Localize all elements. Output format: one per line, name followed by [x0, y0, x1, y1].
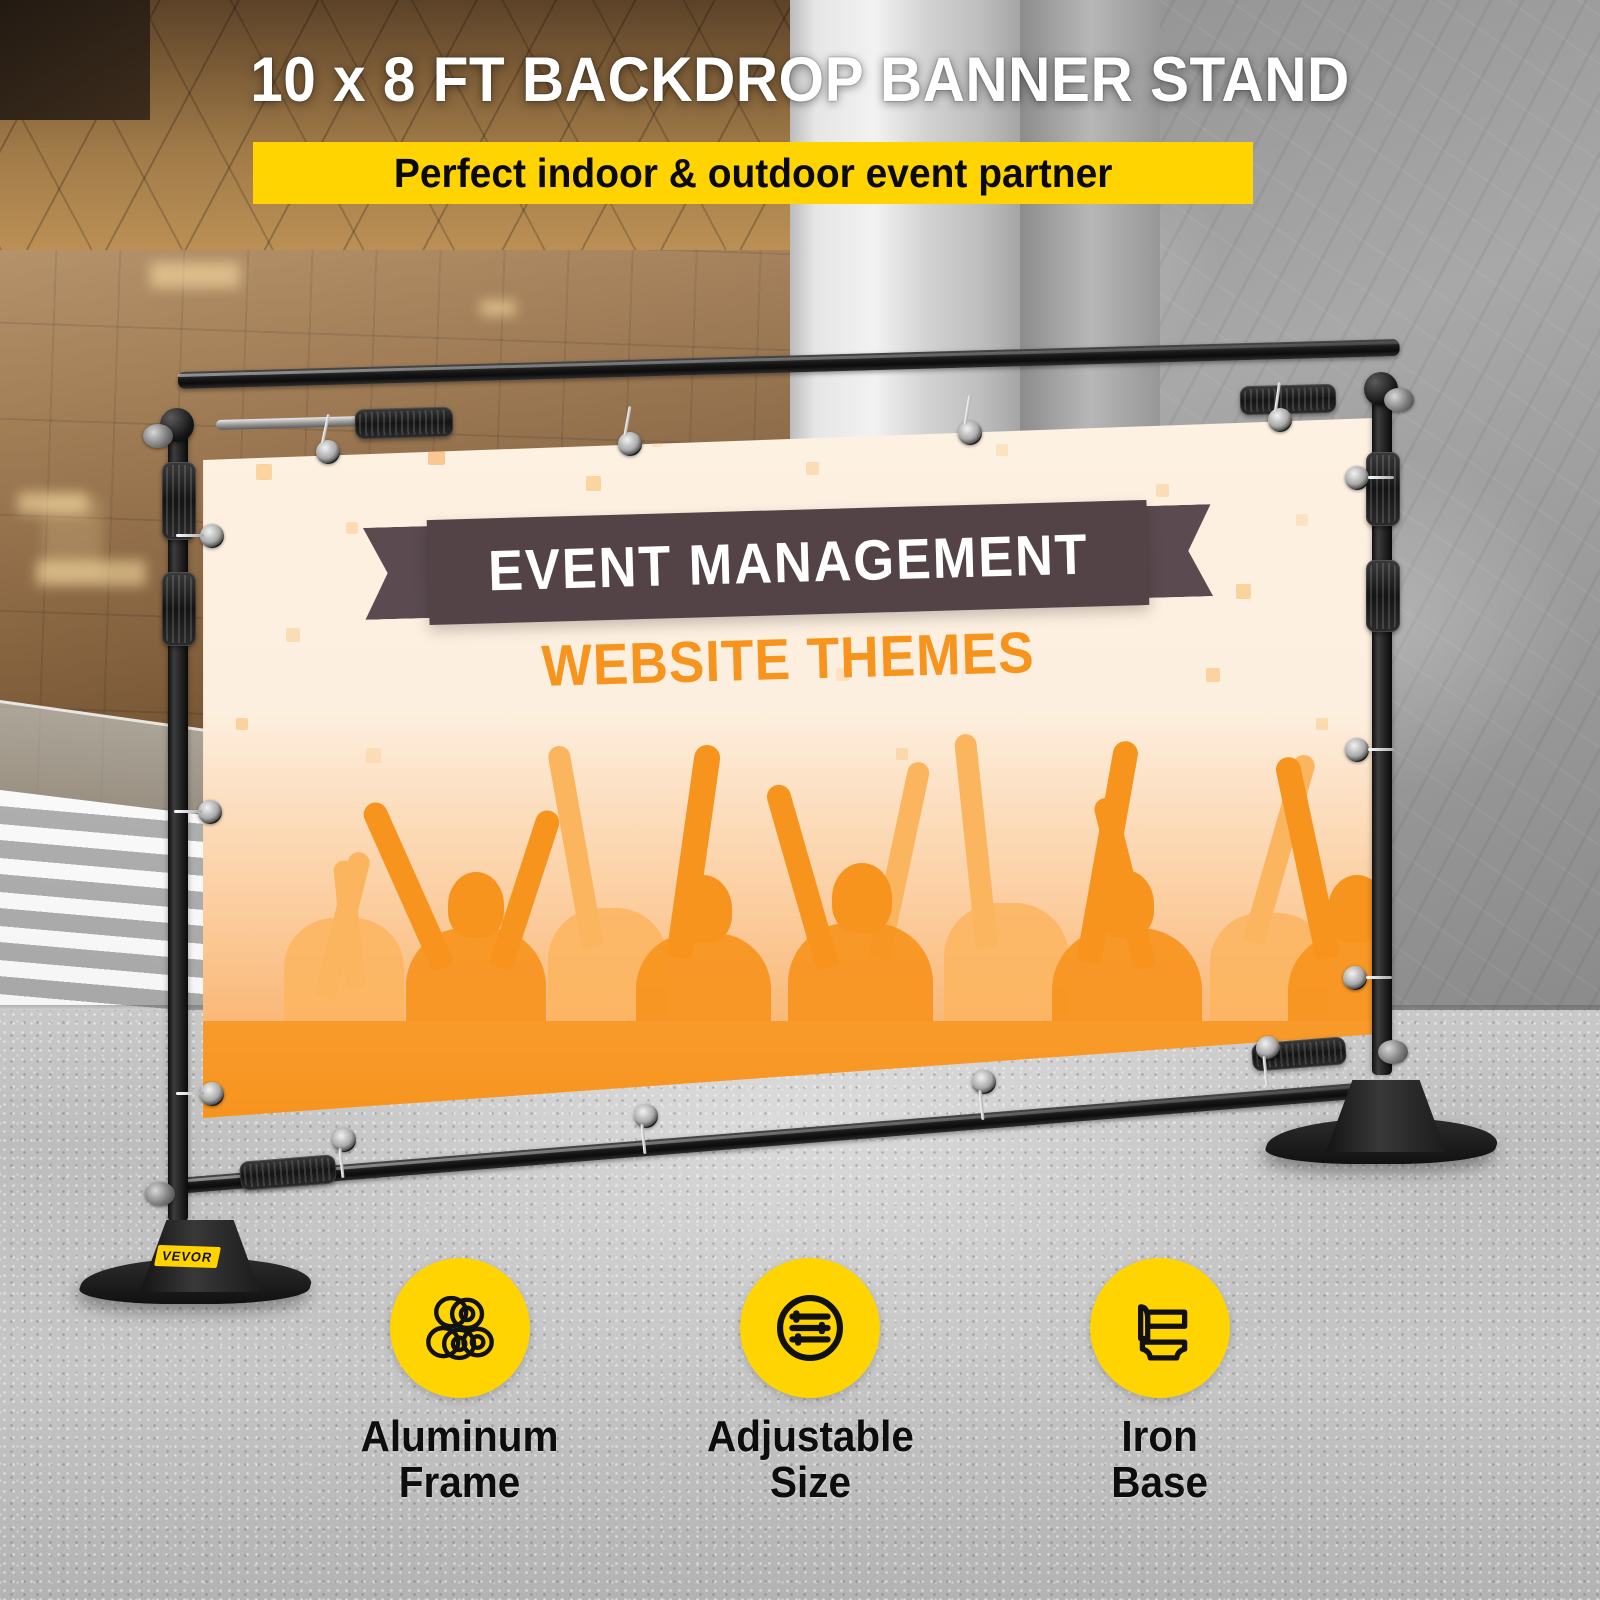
banner-ribbon-text: EVENT MANAGEMENT — [487, 521, 1089, 604]
banner-grommet — [332, 1128, 356, 1152]
left-pole-lock-mid[interactable] — [162, 572, 196, 646]
feature-label: Iron Base — [1112, 1414, 1209, 1506]
banner-grommet — [958, 421, 982, 445]
ribbon-body: EVENT MANAGEMENT — [427, 500, 1150, 625]
banner-ribbon: EVENT MANAGEMENT — [427, 500, 1150, 625]
banner-hook — [176, 534, 204, 537]
left-pole-thumbscrew[interactable] — [143, 424, 173, 448]
feature-icon-badge — [390, 1258, 530, 1398]
banner-grommet — [618, 432, 642, 456]
page-title: 10 x 8 FT BACKDROP BANNER STAND — [56, 44, 1544, 116]
banner-grommet — [1343, 966, 1367, 990]
banner-hook — [1368, 476, 1394, 479]
feature-label: Adjustable Size — [707, 1414, 914, 1506]
right-pole-thumbscrew[interactable] — [1384, 388, 1414, 412]
banner-grommet — [972, 1070, 996, 1094]
banner-hook — [1368, 748, 1394, 751]
banner-grommet — [1345, 738, 1369, 762]
banner-hook — [174, 810, 202, 813]
feature-list: Aluminum Frame Adjustable Size — [330, 1258, 1290, 1506]
feature-label: Aluminum Frame — [361, 1414, 559, 1506]
printed-banner: EVENT MANAGEMENT WEBSITE THEMES — [196, 418, 1376, 1118]
feature-iron-base: Iron Base — [1030, 1258, 1290, 1506]
bottom-crossbar-adjust-knob-left[interactable] — [239, 1154, 337, 1191]
banner-grommet — [1345, 466, 1369, 490]
left-pole-lock-upper[interactable] — [162, 462, 196, 540]
right-iron-base-foot — [1268, 1060, 1498, 1172]
banner-grommet — [316, 440, 340, 464]
banner-hook — [176, 1092, 204, 1095]
vevor-brand-tag: VEVOR — [154, 1245, 221, 1268]
adjustable-sliders-icon — [766, 1284, 854, 1372]
right-pole-lock-upper[interactable] — [1366, 452, 1400, 526]
banner-grommet — [1268, 408, 1292, 432]
banner-hook — [1366, 976, 1392, 979]
crowd-silhouette — [196, 712, 1376, 1118]
banner-grommet — [634, 1104, 658, 1128]
aluminum-rolls-icon — [416, 1284, 504, 1372]
left-upright-pole — [168, 432, 188, 1222]
feature-aluminum-frame: Aluminum Frame — [330, 1258, 590, 1506]
page-subtitle: Perfect indoor & outdoor event partner — [394, 150, 1112, 197]
foot-ridge — [1326, 1080, 1446, 1152]
feature-adjustable-size: Adjustable Size — [680, 1258, 940, 1506]
top-crossbar — [178, 339, 1400, 389]
right-pole-lock-mid[interactable] — [1366, 560, 1400, 632]
feature-icon-badge — [1090, 1258, 1230, 1398]
crossbar-adjust-knob-left[interactable] — [355, 407, 454, 440]
banner-grommet — [1256, 1036, 1280, 1060]
feature-icon-badge — [740, 1258, 880, 1398]
subtitle-banner: Perfect indoor & outdoor event partner — [253, 142, 1253, 204]
left-iron-base-foot: VEVOR — [82, 1200, 312, 1312]
hammer-anvil-icon — [1116, 1284, 1204, 1372]
